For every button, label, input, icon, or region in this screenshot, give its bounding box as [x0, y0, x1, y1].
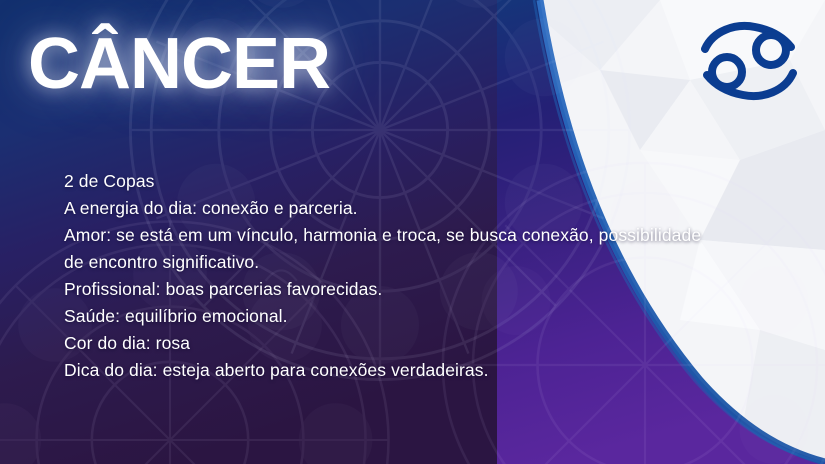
horoscope-line: Saúde: equilíbrio emocional. — [64, 303, 804, 330]
horoscope-line: de encontro significativo. — [64, 249, 804, 276]
horoscope-text: 2 de Copas A energia do dia: conexão e p… — [64, 168, 804, 384]
horoscope-line: Amor: se está em um vínculo, harmonia e … — [64, 222, 804, 249]
sign-title: CÂNCER — [28, 28, 330, 100]
horoscope-line: 2 de Copas — [64, 168, 804, 195]
horoscope-line: Dica do dia: esteja aberto para conexões… — [64, 357, 804, 384]
horoscope-card: CÂNCER 2 de Copas A energia do dia: cone… — [0, 0, 825, 464]
horoscope-line: Cor do dia: rosa — [64, 330, 804, 357]
horoscope-line: A energia do dia: conexão e parceria. — [64, 195, 804, 222]
cancer-zodiac-icon — [697, 17, 801, 105]
horoscope-line: Profissional: boas parcerias favorecidas… — [64, 276, 804, 303]
